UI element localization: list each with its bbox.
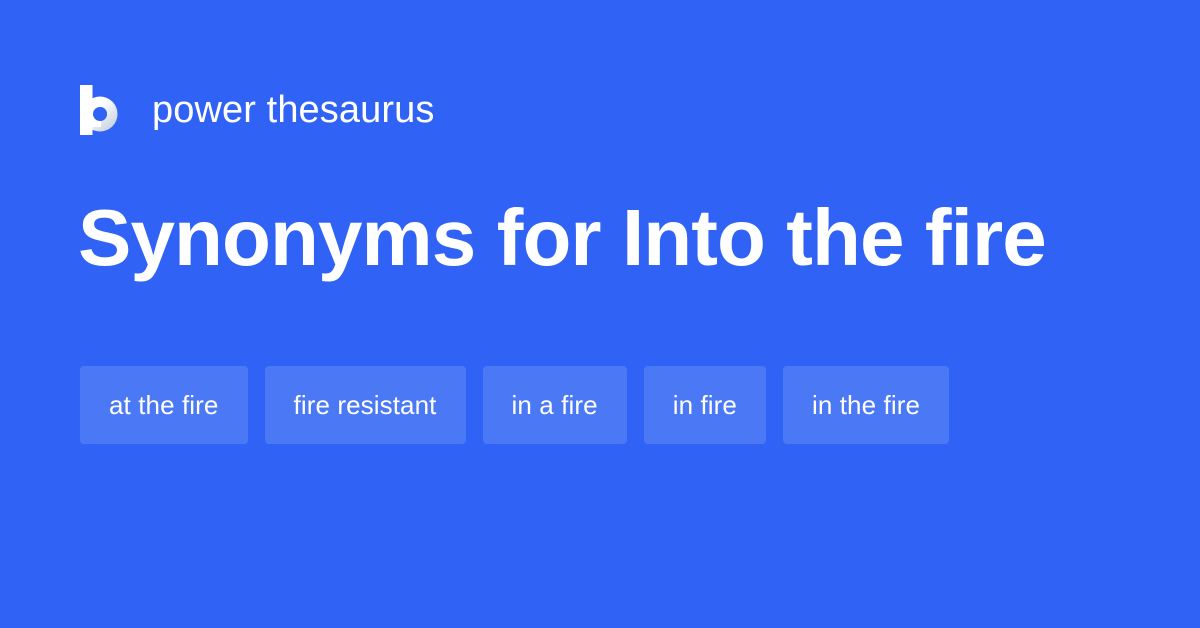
social-card: power thesaurus Synonyms for Into the fi… — [0, 0, 1200, 628]
brand-name: power thesaurus — [152, 91, 434, 129]
synonym-chip[interactable]: at the fire — [80, 366, 248, 444]
brand-header[interactable]: power thesaurus — [80, 82, 434, 138]
synonym-chip[interactable]: in a fire — [483, 366, 627, 444]
synonym-chip[interactable]: in fire — [644, 366, 766, 444]
synonym-chip[interactable]: in the fire — [783, 366, 949, 444]
synonym-chip-list: at the fire fire resistant in a fire in … — [80, 366, 1140, 444]
page-title: Synonyms for Into the fire — [78, 196, 1046, 281]
power-thesaurus-b-logo-icon — [80, 85, 124, 135]
synonym-chip[interactable]: fire resistant — [265, 366, 466, 444]
